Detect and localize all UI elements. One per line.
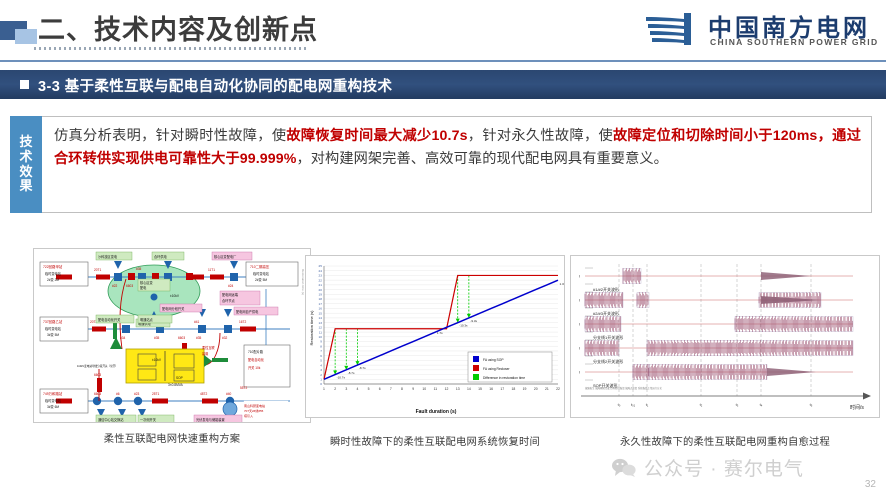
svg-text:13: 13 xyxy=(319,321,323,325)
svg-text:6603: 6603 xyxy=(126,284,133,288)
page-number: 32 xyxy=(865,479,876,490)
svg-text:13: 13 xyxy=(456,387,460,391)
svg-text:16: 16 xyxy=(489,387,493,391)
svg-text:737回路乙站: 737回路乙站 xyxy=(43,319,63,324)
svg-text:2: 2 xyxy=(334,387,336,391)
svg-text:沙科技区变电: 沙科技区变电 xyxy=(98,254,118,259)
svg-text:8: 8 xyxy=(401,387,403,391)
svg-text:110kV变电站母线分段开关（常开）: 110kV变电站母线分段开关（常开） xyxy=(77,364,118,368)
figure-2-caption: 瞬时性故障下的柔性互联配电网系统恢复时间 xyxy=(305,433,565,448)
svg-text:18: 18 xyxy=(512,387,516,391)
svg-text:722回路甲站: 722回路甲站 xyxy=(43,264,63,269)
svg-text:25: 25 xyxy=(319,264,323,268)
svg-text:#22: #22 xyxy=(112,284,118,288)
svg-text:6603: 6603 xyxy=(94,392,101,396)
svg-text:9: 9 xyxy=(320,340,322,344)
svg-text:6603: 6603 xyxy=(178,336,185,340)
section-title-bar: 3-3 基于柔性互联与配电自动化协同的配电网重构技术 xyxy=(0,70,886,99)
svg-text:配电自动化: 配电自动化 xyxy=(248,357,265,362)
single-line-diagram-svg: 722回路甲站 临时变电站 2#变 2M 737回路乙站 临时变电站 3#变 5… xyxy=(34,249,311,423)
svg-text:Difference in restoration time: Difference in restoration time xyxy=(483,376,525,380)
svg-text:6: 6 xyxy=(320,354,322,358)
svg-text:1.7s: 1.7s xyxy=(437,331,443,335)
svg-text:柔性互联: 柔性互联 xyxy=(202,345,216,350)
svg-text:光伏发电与储能装置: 光伏发电与储能装置 xyxy=(196,417,225,422)
svg-text:24: 24 xyxy=(319,269,323,273)
technical-effect-tag: 技 术 效 果 xyxy=(10,116,42,213)
title-underline-dots xyxy=(34,47,306,50)
chart-y-axis-label: Restoration time (s) xyxy=(309,310,314,346)
company-logo: 中国南方电网 CHINA SOUTHERN POWER GRID xyxy=(646,8,878,52)
svg-text:2: 2 xyxy=(320,373,322,377)
svg-text:7: 7 xyxy=(390,387,392,391)
svg-text:15: 15 xyxy=(319,311,323,315)
logo-name-en: CHINA SOUTHERN POWER GRID xyxy=(710,37,879,47)
svg-text:t₅: t₅ xyxy=(810,402,813,407)
svg-text:14: 14 xyxy=(467,387,471,391)
svg-text:合环供电: 合环供电 xyxy=(154,254,168,259)
svg-text:I: I xyxy=(579,370,580,375)
svg-text:20T1: 20T1 xyxy=(94,268,101,272)
svg-text:14: 14 xyxy=(319,316,323,320)
svg-text:装置: 装置 xyxy=(202,351,208,356)
svg-text:配电网远端: 配电网远端 xyxy=(222,292,239,297)
svg-text:1.3s: 1.3s xyxy=(560,282,566,286)
restoration-time-line-chart: 0123456789101112131415161718192021222324… xyxy=(306,256,565,418)
svg-text:11: 11 xyxy=(434,387,438,391)
svg-text:SOP: SOP xyxy=(176,376,183,380)
svg-text:19: 19 xyxy=(319,293,323,297)
svg-text:通信中心站交换站: 通信中心站交换站 xyxy=(98,417,124,422)
svg-text:t₀: t₀ xyxy=(618,402,621,407)
figure-2: 0123456789101112131415161718192021222324… xyxy=(305,255,565,418)
watermark: 公众号 · 赛尔电气 xyxy=(612,452,822,482)
svg-text:3×0.8MVA: 3×0.8MVA xyxy=(168,383,184,387)
svg-text:3: 3 xyxy=(345,387,347,391)
svg-text:20: 20 xyxy=(534,387,538,391)
tag-char-2: 效 xyxy=(19,165,32,180)
figure-row: 722回路甲站 临时变电站 2#变 2M 737回路乙站 临时变电站 3#变 5… xyxy=(0,243,886,453)
tag-char-0: 技 xyxy=(19,135,32,150)
svg-text:配电自动化开关: 配电自动化开关 xyxy=(98,317,121,322)
svg-text:5: 5 xyxy=(320,359,322,363)
svg-text:I: I xyxy=(579,274,580,279)
svg-text:t₄: t₄ xyxy=(760,402,763,407)
timing-waveform-diagram: IIIII #1/#2开关波形#2/#3开关波形分支线1开关波形分支线2开关波形… xyxy=(571,256,880,418)
figure-3-image: IIIII #1/#2开关波形#2/#3开关波形分支线1开关波形分支线2开关波形… xyxy=(570,255,880,418)
svg-text:7: 7 xyxy=(320,349,322,353)
svg-text:-9.3s: -9.3s xyxy=(470,319,477,323)
svg-text:t₀₁: t₀₁ xyxy=(631,402,636,407)
svg-text:21: 21 xyxy=(545,387,549,391)
svg-text:5: 5 xyxy=(368,387,370,391)
figure-3: IIIII #1/#2开关波形#2/#3开关波形分支线1开关波形分支线2开关波形… xyxy=(570,255,880,418)
svg-text:710配片路: 710配片路 xyxy=(248,349,264,354)
svg-text:20: 20 xyxy=(319,288,323,292)
tag-char-3: 果 xyxy=(19,179,32,194)
svg-text:#35: #35 xyxy=(196,336,202,340)
svg-text:2#变 2M: 2#变 2M xyxy=(47,277,59,282)
figure-1-caption: 柔性互联配电网快速重构方案 xyxy=(33,430,311,445)
svg-text:55T2: 55T2 xyxy=(240,386,247,390)
chart-legend: FA using SOP FA using Recloser Differenc… xyxy=(468,352,552,382)
svg-text:临时变电站: 临时变电站 xyxy=(253,271,270,276)
svg-text:t₃: t₃ xyxy=(736,402,739,407)
svg-text:-8.7s: -8.7s xyxy=(348,371,355,375)
svg-text:11: 11 xyxy=(319,330,322,334)
svg-text:-10.3s: -10.3s xyxy=(459,324,468,328)
svg-text:一次侧开关: 一次侧开关 xyxy=(140,417,157,422)
svg-text:3#变 5M: 3#变 5M xyxy=(47,332,59,337)
svg-text:6: 6 xyxy=(379,387,381,391)
svg-text:12: 12 xyxy=(445,387,449,391)
effect-run-4: ，对构建网架完善、高效可靠的现代配电网具有重要意义。 xyxy=(296,151,667,167)
svg-text:核心区变: 核心区变 xyxy=(140,280,154,285)
svg-text:合环节点: 合环节点 xyxy=(222,298,236,303)
timing-x-axis-label: 时间/s xyxy=(850,404,864,411)
slide-header: 二、技术内容及创新点 中国南方电网 CHINA SOUTHERN POWER G… xyxy=(0,0,886,62)
wechat-icon xyxy=(612,458,636,477)
svg-text:I: I xyxy=(579,298,580,303)
svg-text:4: 4 xyxy=(320,363,322,367)
svg-text:FA using Recloser: FA using Recloser xyxy=(483,367,510,371)
svg-text:15: 15 xyxy=(478,387,482,391)
svg-text:明通站点: 明通站点 xyxy=(140,317,154,322)
svg-text:分支线2开关波形: 分支线2开关波形 xyxy=(593,358,623,364)
figure-3-caption: 永久性故障下的柔性互联配电网重构自愈过程 xyxy=(570,433,880,448)
header-divider xyxy=(0,60,886,62)
svg-text:塔引入: 塔引入 xyxy=(244,413,253,418)
svg-text:12: 12 xyxy=(319,326,323,330)
header-decoration-square-light xyxy=(15,29,37,44)
svg-text:9: 9 xyxy=(412,387,414,391)
svg-text:±10kV: ±10kV xyxy=(152,358,162,362)
svg-text:配电: 配电 xyxy=(140,285,147,290)
svg-text:3#变 6M: 3#变 6M xyxy=(47,404,59,409)
svg-text:FA using SOP: FA using SOP xyxy=(483,358,504,362)
svg-text:48T2: 48T2 xyxy=(200,392,207,396)
svg-text:配电网分段开关: 配电网分段开关 xyxy=(162,306,185,311)
svg-text:#24: #24 xyxy=(228,284,234,288)
svg-text:#1/#2开关波形: #1/#2开关波形 xyxy=(593,286,619,292)
svg-text:0: 0 xyxy=(320,382,322,386)
svg-text:#35: #35 xyxy=(154,336,160,340)
svg-text:南山科研变电站: 南山科研变电站 xyxy=(244,403,265,408)
svg-text:#23: #23 xyxy=(134,392,140,396)
svg-text:1: 1 xyxy=(323,387,325,391)
technical-effect-text: 仿真分析表明，针对瞬时性故障，使故障恢复时间最大减少10.7s，针对永久性故障，… xyxy=(54,125,861,171)
svg-text:t₂: t₂ xyxy=(700,402,703,407)
svg-text:707天2#线#55: 707天2#线#55 xyxy=(244,408,264,413)
svg-text:21: 21 xyxy=(319,283,323,287)
chart-x-axis-label: Fault duration (s) xyxy=(416,409,457,415)
svg-text:23: 23 xyxy=(319,274,323,278)
effect-run-2: ，针对永久性故障，使 xyxy=(468,128,613,144)
technical-effect-body: 仿真分析表明，针对瞬时性故障，使故障恢复时间最大减少10.7s，针对永久性故障，… xyxy=(42,116,872,213)
svg-text:核心区变配电厂: 核心区变配电厂 xyxy=(214,254,236,259)
figure-1: 722回路甲站 临时变电站 2#变 2M 737回路乙站 临时变电站 3#变 5… xyxy=(33,248,311,423)
svg-text:22: 22 xyxy=(319,278,323,282)
figure-2-image: 0123456789101112131415161718192021222324… xyxy=(305,255,565,418)
page-title: 二、技术内容及创新点 xyxy=(38,8,318,47)
svg-text:22: 22 xyxy=(556,387,560,391)
csg-logo-mark-icon xyxy=(646,12,702,46)
svg-text:8: 8 xyxy=(320,344,322,348)
svg-text:临时变电站: 临时变电站 xyxy=(45,271,62,276)
watermark-text: 公众号 · 赛尔电气 xyxy=(644,454,804,481)
svg-text:4: 4 xyxy=(356,387,358,391)
svg-text:-10.7s: -10.7s xyxy=(337,376,346,380)
svg-text:17: 17 xyxy=(319,302,323,306)
svg-text:配电网自产供电: 配电网自产供电 xyxy=(236,309,259,314)
svg-text:18: 18 xyxy=(319,297,323,301)
svg-text:开关 10k: 开关 10k xyxy=(248,365,261,370)
svg-text:#6: #6 xyxy=(116,392,120,396)
svg-text:17: 17 xyxy=(500,387,504,391)
svg-text:2#变 5M: 2#变 5M xyxy=(255,277,267,282)
effect-run-0: 仿真分析表明，针对瞬时性故障，使 xyxy=(54,128,286,144)
svg-text:6603: 6603 xyxy=(94,373,101,377)
svg-text:19: 19 xyxy=(523,387,527,391)
technical-effect-block: 技 术 效 果 仿真分析表明，针对瞬时性故障，使故障恢复时间最大减少10.7s，… xyxy=(10,116,872,213)
svg-text:I: I xyxy=(579,346,580,351)
svg-text:I: I xyxy=(579,322,580,327)
section-title-label: 3-3 基于柔性互联与配电自动化协同的配电网重构技术 xyxy=(38,75,392,96)
svg-text:10: 10 xyxy=(422,387,426,391)
svg-text:25T1: 25T1 xyxy=(152,392,159,396)
svg-text:16: 16 xyxy=(319,307,323,311)
svg-text:1: 1 xyxy=(320,377,322,381)
svg-text:分支线1开关波形: 分支线1开关波形 xyxy=(593,334,623,340)
svg-text:#40: #40 xyxy=(226,392,232,396)
svg-text:11T1: 11T1 xyxy=(208,268,215,272)
svg-text:#35: #35 xyxy=(136,267,142,271)
svg-text:749万和路站: 749万和路站 xyxy=(43,391,63,396)
svg-text:故障发生 故障隔离完成 负荷转供恢复 故障点修复 系: 故障发生 故障隔离完成 负荷转供恢复 故障点修复 系统恢复正常运行方式 xyxy=(585,386,662,390)
svg-text:临时变电站: 临时变电站 xyxy=(45,326,62,331)
svg-text:#2/#3开关波形: #2/#3开关波形 xyxy=(593,310,619,316)
effect-run-1: 故障恢复时间最大减少10.7s xyxy=(286,128,467,144)
figure-1-image: 722回路甲站 临时变电站 2#变 2M 737回路乙站 临时变电站 3#变 5… xyxy=(33,248,311,423)
svg-text:10: 10 xyxy=(319,335,323,339)
svg-text:-8.7s: -8.7s xyxy=(359,366,366,370)
svg-text:710二期高压: 710二期高压 xyxy=(250,264,270,269)
svg-text:#32: #32 xyxy=(222,336,228,340)
square-bullet-icon xyxy=(20,80,29,89)
svg-text:16T2: 16T2 xyxy=(239,320,246,324)
svg-text:#41: #41 xyxy=(194,320,200,324)
svg-text:3: 3 xyxy=(320,368,322,372)
svg-text:#34: #34 xyxy=(120,336,126,340)
svg-text:临时变电站: 临时变电站 xyxy=(45,398,62,403)
svg-text:±10kV: ±10kV xyxy=(170,294,180,298)
tag-char-1: 术 xyxy=(19,150,32,165)
